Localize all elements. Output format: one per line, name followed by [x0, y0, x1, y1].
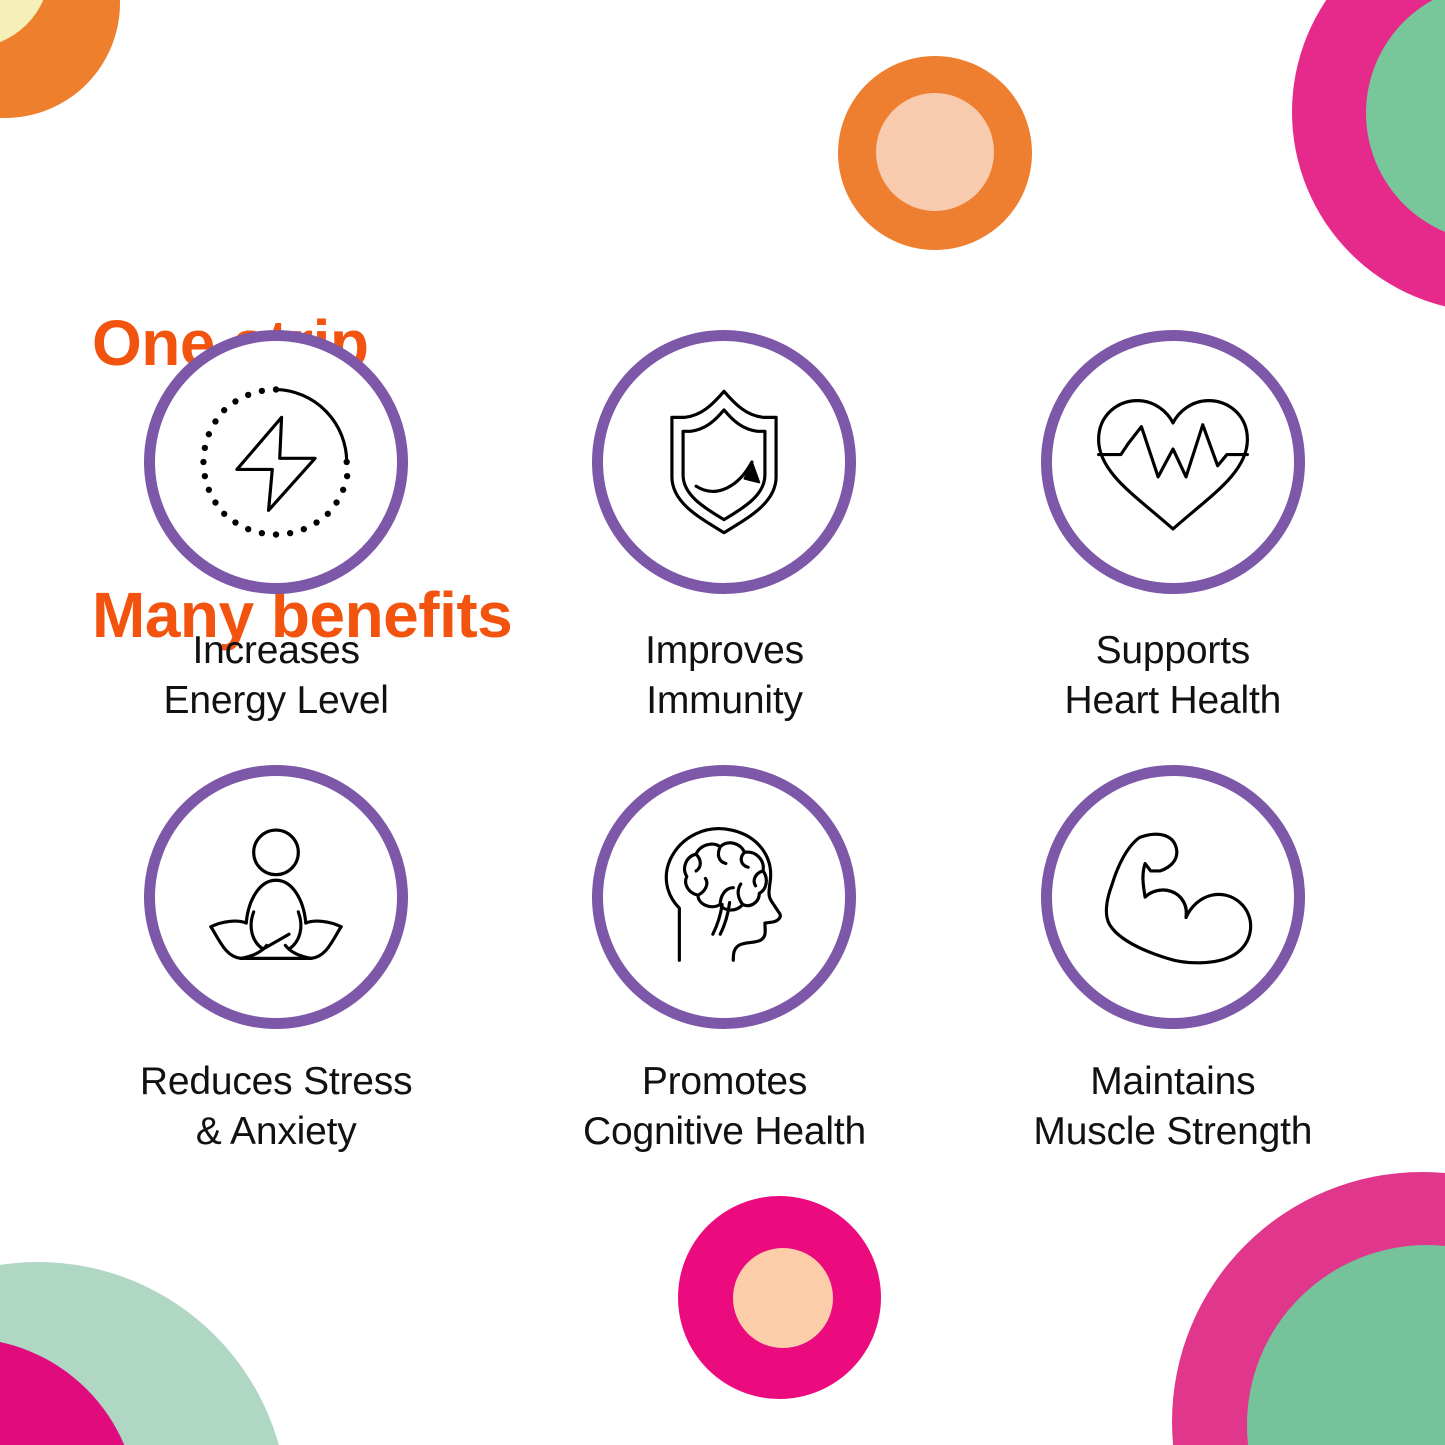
meditation-icon — [183, 804, 369, 990]
heart-pulse-icon — [1080, 369, 1266, 555]
benefit-icon-ring — [592, 330, 856, 594]
energy-bolt-icon — [183, 369, 369, 555]
benefit-label-cognitive: Promotes Cognitive Health — [583, 1057, 866, 1157]
benefit-item-muscle[interactable]: Maintains Muscle Strength — [949, 765, 1397, 1200]
benefit-item-energy[interactable]: Increases Energy Level — [52, 330, 500, 765]
benefit-icon-ring — [144, 765, 408, 1029]
bottom-center-pink-ring-outer — [678, 1196, 881, 1399]
bottom-left-mint-ring-outer — [0, 1262, 288, 1445]
shield-arrow-icon — [631, 369, 817, 555]
benefit-label-energy: Increases Energy Level — [164, 626, 389, 726]
benefit-label-heart: Supports Heart Health — [1065, 626, 1282, 726]
flexed-bicep-icon — [1080, 804, 1266, 990]
benefit-item-heart[interactable]: Supports Heart Health — [949, 330, 1397, 765]
top-left-orange-ring-inner — [0, 0, 50, 48]
bottom-left-mint-ring-inner — [0, 1338, 138, 1445]
top-left-orange-ring-outer — [0, 0, 120, 118]
benefit-label-muscle: Maintains Muscle Strength — [1033, 1057, 1312, 1157]
benefit-item-cognitive[interactable]: Promotes Cognitive Health — [500, 765, 948, 1200]
benefit-label-stress: Reduces Stress & Anxiety — [140, 1057, 413, 1157]
top-right-magenta-ring-inner — [1366, 0, 1445, 242]
bottom-center-pink-ring-inner — [733, 1248, 833, 1348]
top-center-orange-ring-inner — [876, 93, 994, 211]
bottom-right-magenta-ring-outer — [1172, 1172, 1445, 1445]
infographic-canvas: One strip Many benefits — [0, 0, 1445, 1445]
top-center-orange-ring-outer — [838, 56, 1032, 250]
benefit-item-stress[interactable]: Reduces Stress & Anxiety — [52, 765, 500, 1200]
benefits-grid: Increases Energy Level Improves Immunity — [52, 330, 1397, 1200]
bottom-right-magenta-ring-inner — [1247, 1245, 1445, 1445]
brain-head-icon — [631, 804, 817, 990]
benefit-icon-ring — [592, 765, 856, 1029]
benefit-icon-ring — [1041, 330, 1305, 594]
benefit-label-immunity: Improves Immunity — [645, 626, 804, 726]
benefit-icon-ring — [144, 330, 408, 594]
benefit-item-immunity[interactable]: Improves Immunity — [500, 330, 948, 765]
top-right-magenta-ring-outer — [1292, 0, 1445, 312]
benefit-icon-ring — [1041, 765, 1305, 1029]
